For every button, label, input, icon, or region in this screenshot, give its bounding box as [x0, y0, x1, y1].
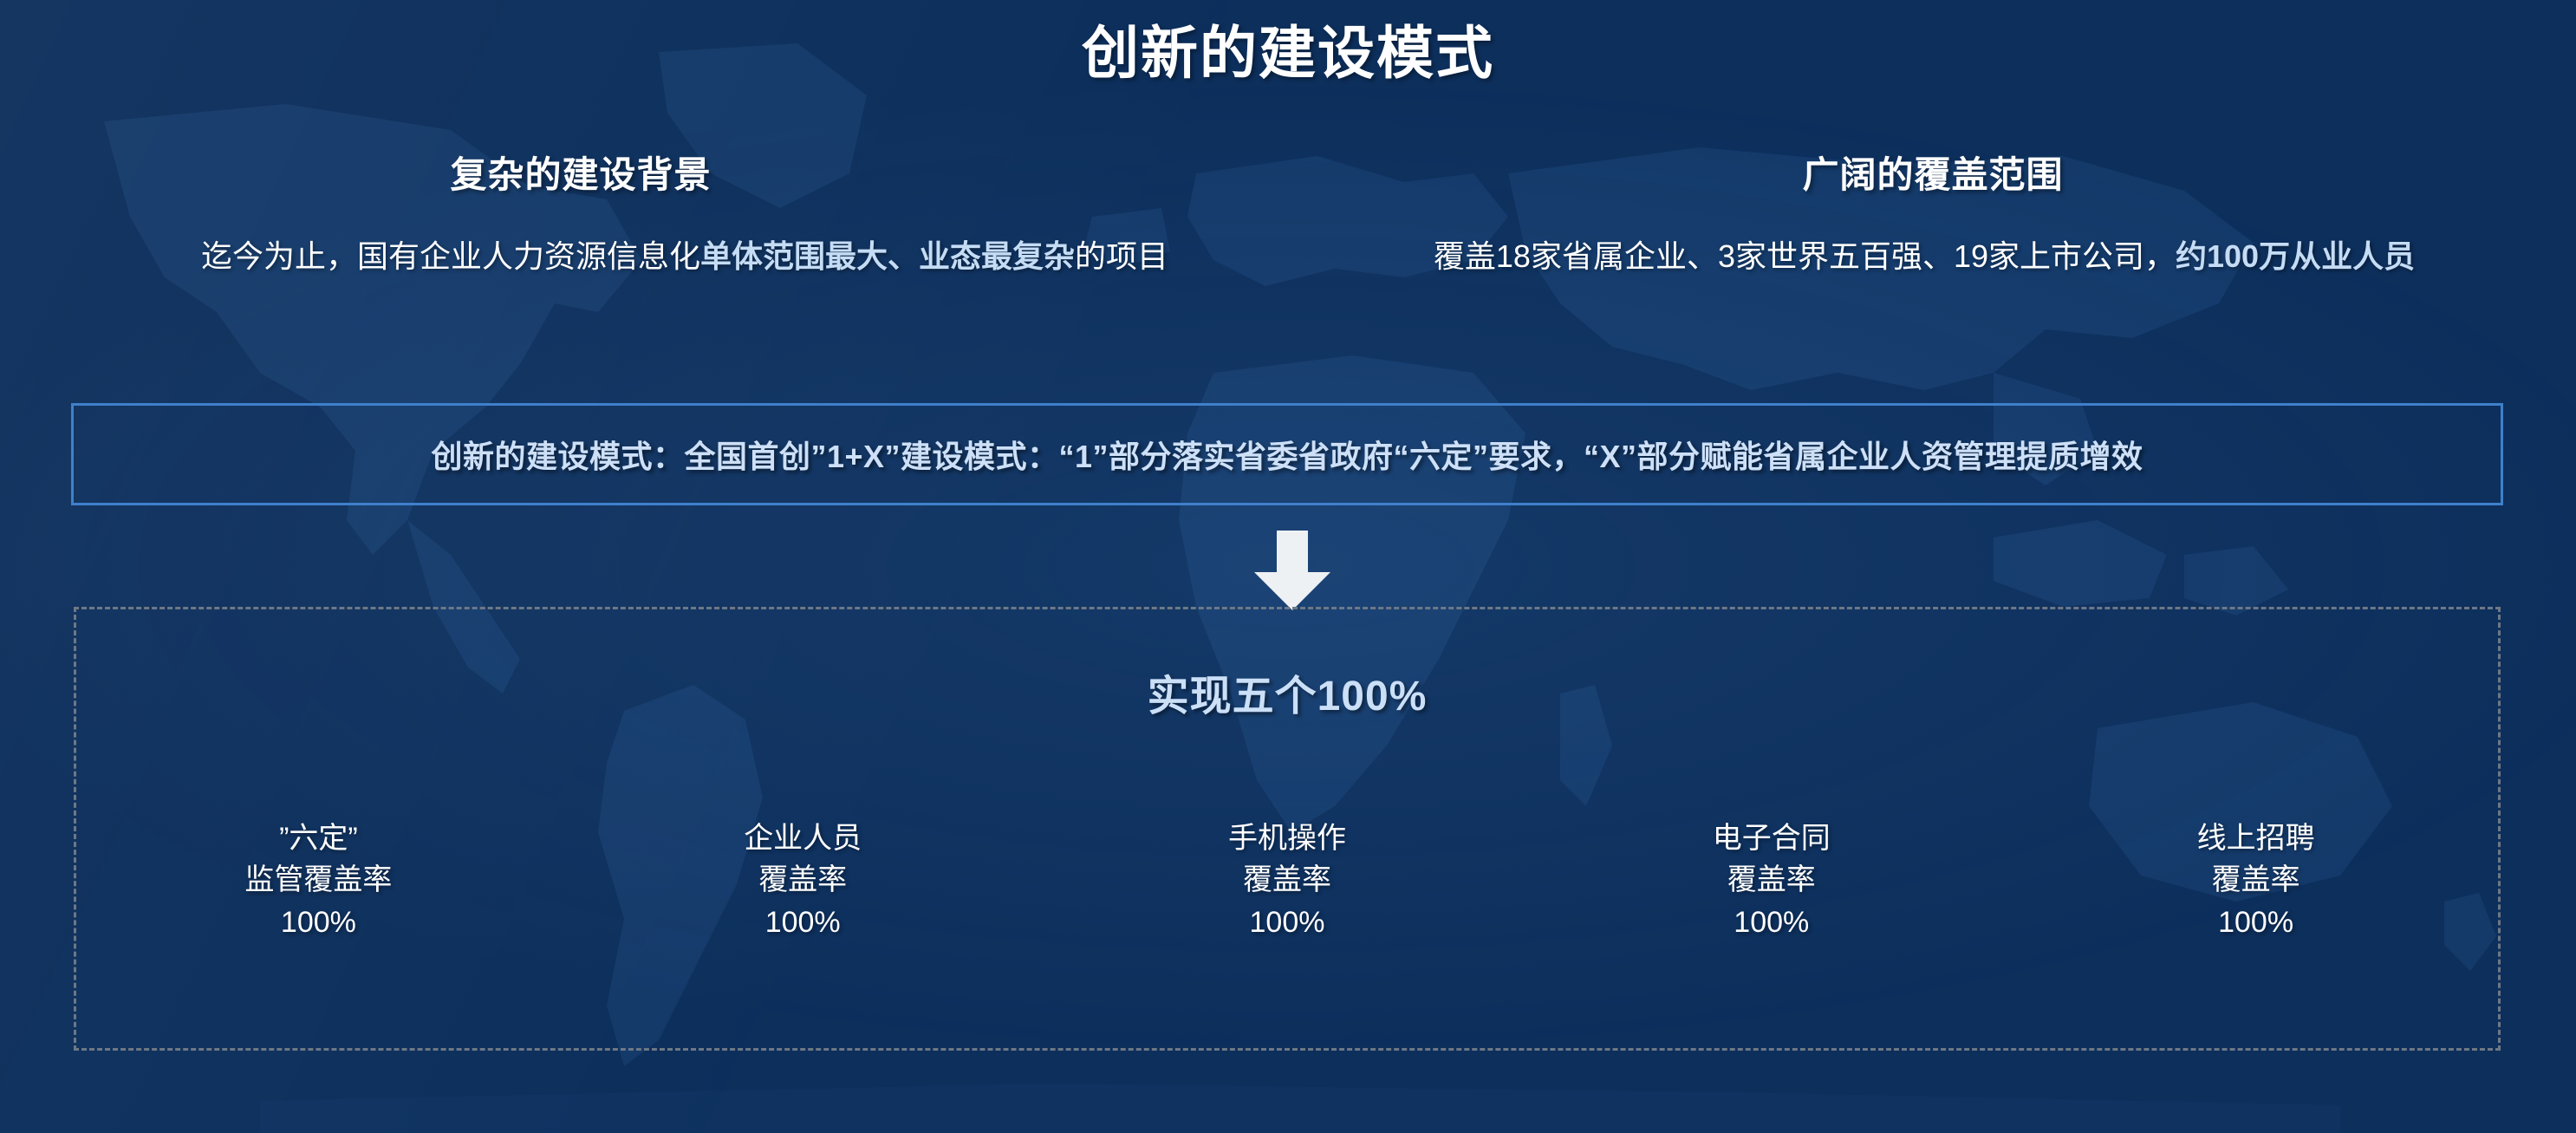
banner-text: 创新的建设模式：全国首创”1+X”建设模式：“1”部分落实省委省政府“六定”要求…	[431, 432, 2143, 477]
arrow-down-icon	[1251, 531, 1334, 610]
metric-item: 线上招聘 覆盖率 100%	[2065, 817, 2447, 943]
background-text-plain-1: 迄今为止，国有企业人力资源信息化	[201, 238, 700, 274]
metric-label-line1: 企业人员	[612, 817, 993, 859]
section-body-coverage: 覆盖18家省属企业、3家世界五百强、19家上市公司，约100万从业人员	[1335, 236, 2514, 277]
metric-label-line1: 手机操作	[1096, 817, 1478, 859]
metric-value: 100%	[1581, 902, 1962, 943]
results-title: 实现五个100%	[76, 661, 2498, 722]
metric-label-line2: 覆盖率	[1581, 859, 1962, 901]
coverage-text-highlight: 约100万从业人员	[2176, 238, 2415, 274]
coverage-text-plain-1: 覆盖18家省属企业、3家世界五百强、19家上市公司，	[1434, 238, 2176, 274]
metric-label-line1: ”六定”	[127, 817, 509, 859]
construction-model-banner: 创新的建设模式：全国首创”1+X”建设模式：“1”部分落实省委省政府“六定”要求…	[71, 403, 2503, 505]
metric-item: 电子合同 覆盖率 100%	[1581, 817, 1962, 943]
metric-item: 手机操作 覆盖率 100%	[1096, 817, 1478, 943]
results-panel: 实现五个100% ”六定” 监管覆盖率 100% 企业人员 覆盖率 100% 手…	[74, 607, 2501, 1051]
metric-value: 100%	[1096, 902, 1478, 943]
metric-label-line1: 线上招聘	[2065, 817, 2447, 859]
section-body-background: 迄今为止，国有企业人力资源信息化单体范围最大、业态最复杂的项目	[78, 236, 1291, 277]
metrics-row: ”六定” 监管覆盖率 100% 企业人员 覆盖率 100% 手机操作 覆盖率 1…	[76, 817, 2498, 943]
background-text-plain-2: 的项目	[1075, 238, 1168, 274]
metric-value: 100%	[612, 902, 993, 943]
section-heading-coverage: 广阔的覆盖范围	[1638, 146, 2228, 199]
metric-item: ”六定” 监管覆盖率 100%	[127, 817, 509, 943]
metric-label-line1: 电子合同	[1581, 817, 1962, 859]
slide-canvas: 创新的建设模式 复杂的建设背景 迄今为止，国有企业人力资源信息化单体范围最大、业…	[0, 0, 2576, 1133]
section-heading-background: 复杂的建设背景	[286, 146, 875, 199]
metric-label-line2: 覆盖率	[1096, 859, 1478, 901]
metric-value: 100%	[2065, 902, 2447, 943]
metric-label-line2: 监管覆盖率	[127, 859, 509, 901]
metric-value: 100%	[127, 902, 509, 943]
background-text-highlight: 单体范围最大、业态最复杂	[700, 238, 1075, 274]
metric-label-line2: 覆盖率	[2065, 859, 2447, 901]
metric-item: 企业人员 覆盖率 100%	[612, 817, 993, 943]
metric-label-line2: 覆盖率	[612, 859, 993, 901]
page-title: 创新的建设模式	[0, 7, 2576, 90]
